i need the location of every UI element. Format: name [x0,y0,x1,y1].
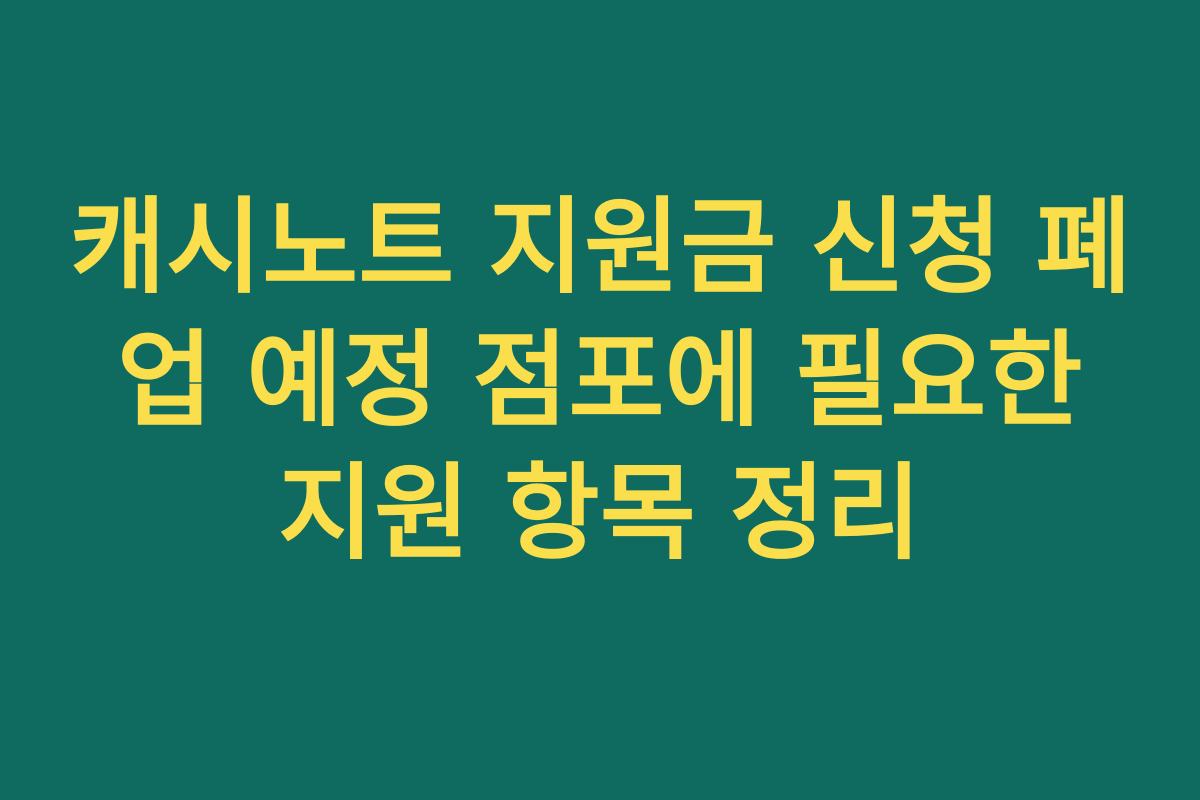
headline-line-2: 업 예정 점포에 필요한 [70,315,1130,448]
headline-line-1: 캐시노트 지원금 신청 폐 [70,182,1130,315]
poster-canvas: 캐시노트 지원금 신청 폐 업 예정 점포에 필요한 지원 항목 정리 [0,0,1200,800]
headline-block: 캐시노트 지원금 신청 폐 업 예정 점포에 필요한 지원 항목 정리 [50,182,1150,581]
headline-line-3: 지원 항목 정리 [70,448,1130,581]
